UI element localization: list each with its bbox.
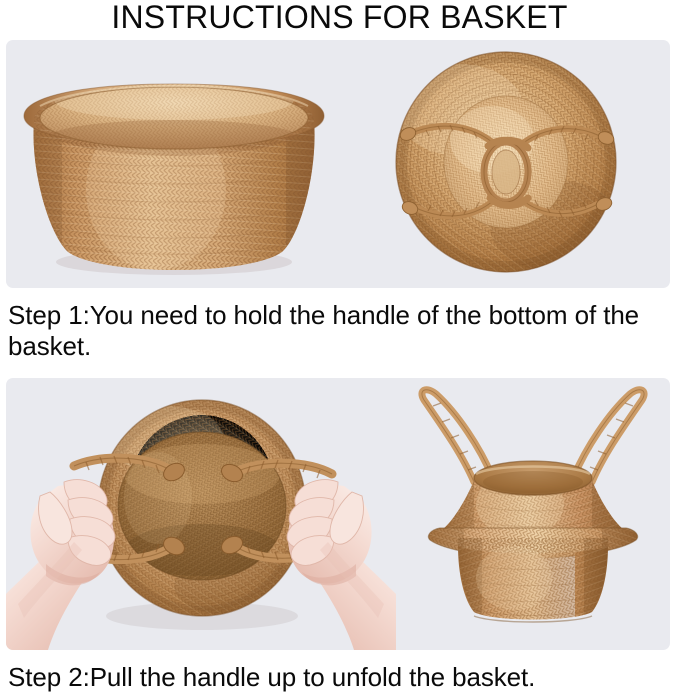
step-2-photo-panel	[6, 378, 670, 650]
photo-folded-basket-side-view	[6, 40, 342, 288]
step-1-photo-panel	[6, 40, 670, 288]
photo-hands-pulling-handles	[6, 378, 396, 650]
page-title: INSTRUCTIONS FOR BASKET	[0, 0, 679, 35]
instruction-sheet: INSTRUCTIONS FOR BASKET	[0, 0, 679, 699]
photo-folded-basket-top-view	[342, 40, 670, 288]
photo-unfolded-basket	[396, 378, 670, 650]
step-1-caption: Step 1:You need to hold the handle of th…	[8, 300, 674, 362]
step-2-caption: Step 2:Pull the handle up to unfold the …	[8, 662, 674, 693]
